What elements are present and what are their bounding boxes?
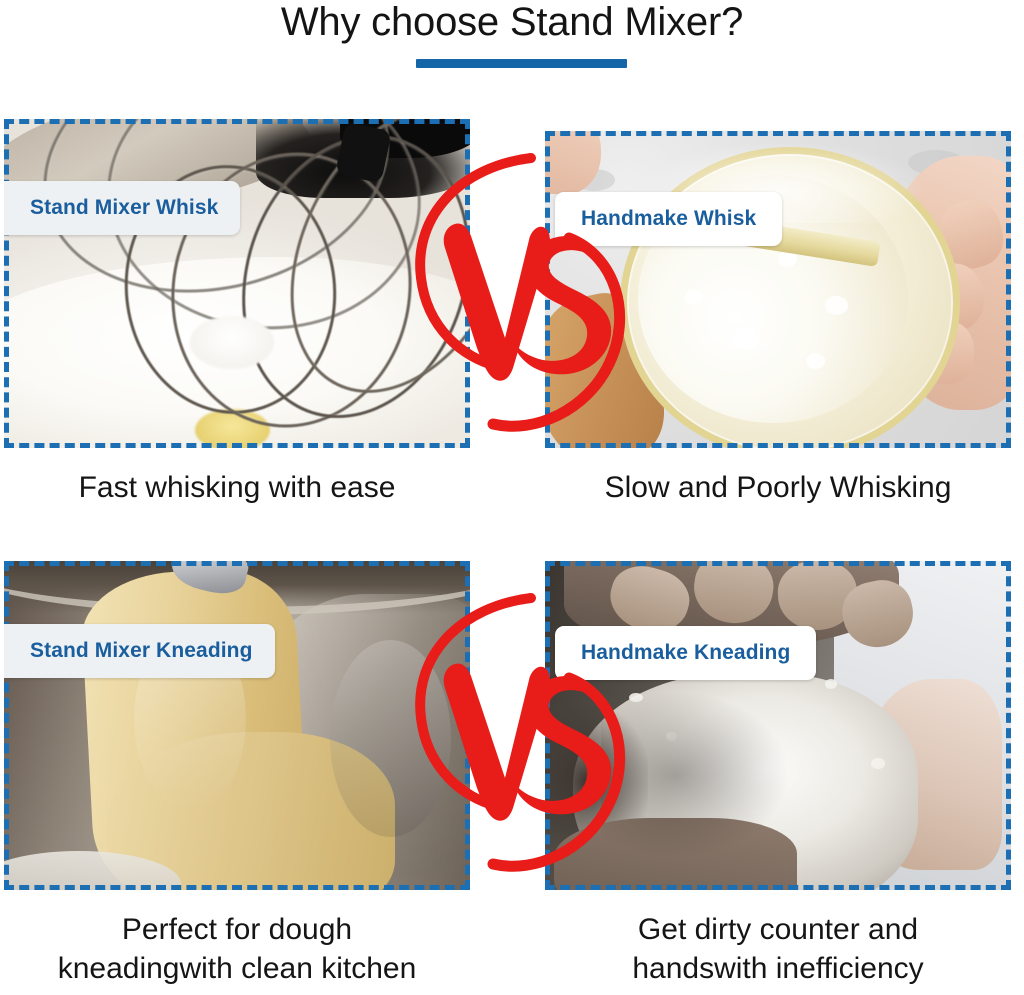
caption-perfect-for-dough: Perfect for dough kneadingwith clean kit… — [4, 910, 470, 988]
chip-stand-mixer-kneading: Stand Mixer Kneading — [4, 624, 275, 678]
comparison-panel-stand-mixer-whisk: Stand Mixer Whisk — [4, 119, 470, 448]
header: Why choose Stand Mixer? — [0, 0, 1024, 92]
photo-stand-mixer-kneading — [4, 561, 470, 890]
photo-handmake-kneading — [545, 561, 1011, 890]
caption-slow-whisking: Slow and Poorly Whisking — [545, 468, 1011, 507]
comparison-panel-stand-mixer-kneading: Stand Mixer Kneading — [4, 561, 470, 890]
caption-line-2: handswith inefficiency — [545, 949, 1011, 988]
comparison-panel-handmake-kneading: Handmake Kneading — [545, 561, 1011, 890]
comparison-panel-handmake-whisk: Handmake Whisk — [545, 131, 1011, 448]
infographic-page: Why choose Stand Mixer? Stand Mixer Whis… — [0, 0, 1024, 995]
caption-fast-whisking: Fast whisking with ease — [4, 468, 470, 507]
chip-label: Handmake Kneading — [581, 641, 790, 665]
chip-label: Handmake Whisk — [581, 207, 756, 231]
chip-label: Stand Mixer Whisk — [30, 196, 218, 220]
photo-handmake-whisk — [545, 131, 1011, 448]
chip-label: Stand Mixer Kneading — [30, 639, 253, 663]
caption-get-dirty-counter: Get dirty counter and handswith ineffici… — [545, 910, 1011, 988]
chip-stand-mixer-whisk: Stand Mixer Whisk — [4, 181, 240, 235]
page-title: Why choose Stand Mixer? — [0, 0, 1024, 46]
chip-handmake-whisk: Handmake Whisk — [555, 192, 782, 246]
title-underline-bar — [416, 59, 627, 68]
caption-line-1: Get dirty counter and — [545, 910, 1011, 949]
photo-stand-mixer-whisk — [4, 119, 470, 448]
chip-handmake-kneading: Handmake Kneading — [555, 626, 816, 680]
caption-line-2: kneadingwith clean kitchen — [4, 949, 470, 988]
caption-line-1: Perfect for dough — [4, 910, 470, 949]
